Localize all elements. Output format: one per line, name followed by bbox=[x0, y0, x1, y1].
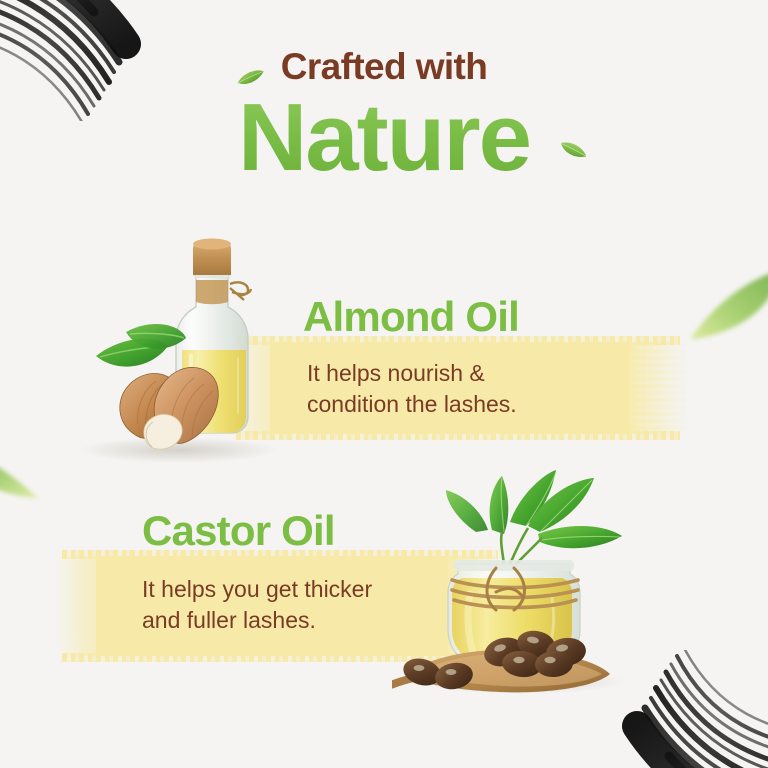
almond-oil-bottle-photo bbox=[60, 228, 296, 464]
leaf-icon-left-edge bbox=[0, 452, 40, 500]
ingredient-title-castor-oil: Castor Oil bbox=[142, 510, 335, 552]
headline-subtitle: Crafted with bbox=[0, 48, 768, 85]
headline-title: Nature bbox=[0, 89, 768, 187]
crafted-with-nature-poster: Crafted with Nature bbox=[0, 0, 768, 768]
band-fray-bottom bbox=[236, 431, 680, 440]
leaf-icon-right-edge bbox=[688, 272, 768, 342]
headline: Crafted with Nature bbox=[0, 48, 768, 187]
ingredient-description-almond-oil: It helps nourish & condition the lashes. bbox=[307, 358, 637, 420]
ingredient-title-almond-oil: Almond Oil bbox=[303, 296, 519, 338]
ingredient-description-castor-oil: It helps you get thicker and fuller lash… bbox=[142, 574, 472, 636]
